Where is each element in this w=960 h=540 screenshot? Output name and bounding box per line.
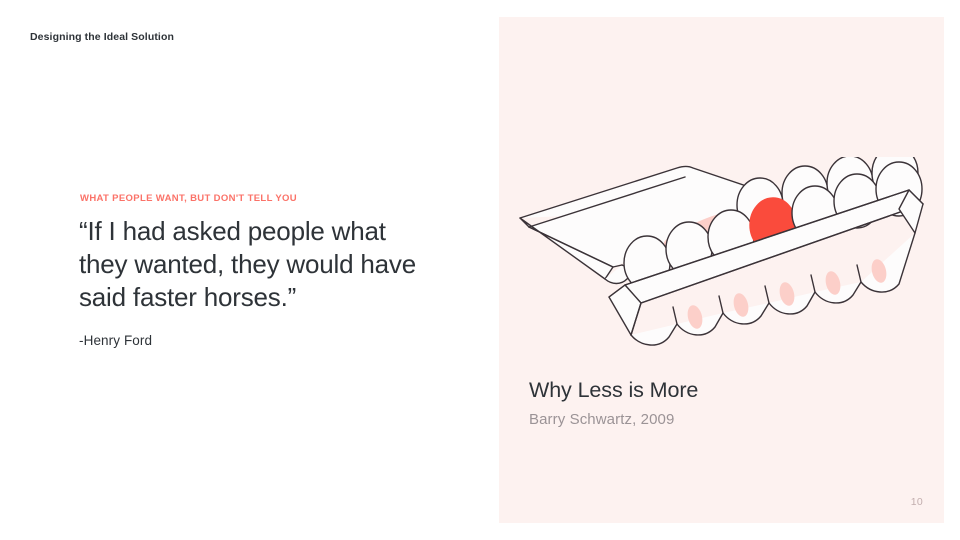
slide-header-title: Designing the Ideal Solution — [30, 31, 174, 43]
panel-subtitle: Barry Schwartz, 2009 — [529, 411, 919, 428]
quote-block: WHAT PEOPLE WANT, BUT DON'T TELL YOU “If… — [79, 193, 439, 348]
quote-eyebrow-label: WHAT PEOPLE WANT, BUT DON'T TELL YOU — [80, 193, 439, 204]
slide: Designing the Ideal Solution WHAT PEOPLE… — [0, 0, 960, 540]
panel-title: Why Less is More — [529, 378, 919, 403]
panel-caption: Why Less is More Barry Schwartz, 2009 — [529, 378, 919, 428]
quote-attribution: -Henry Ford — [79, 333, 439, 348]
quote-text: “If I had asked people what they wanted,… — [79, 215, 439, 314]
egg-carton-illustration — [517, 157, 927, 357]
right-panel: Why Less is More Barry Schwartz, 2009 10 — [499, 17, 944, 523]
page-number: 10 — [911, 496, 923, 508]
